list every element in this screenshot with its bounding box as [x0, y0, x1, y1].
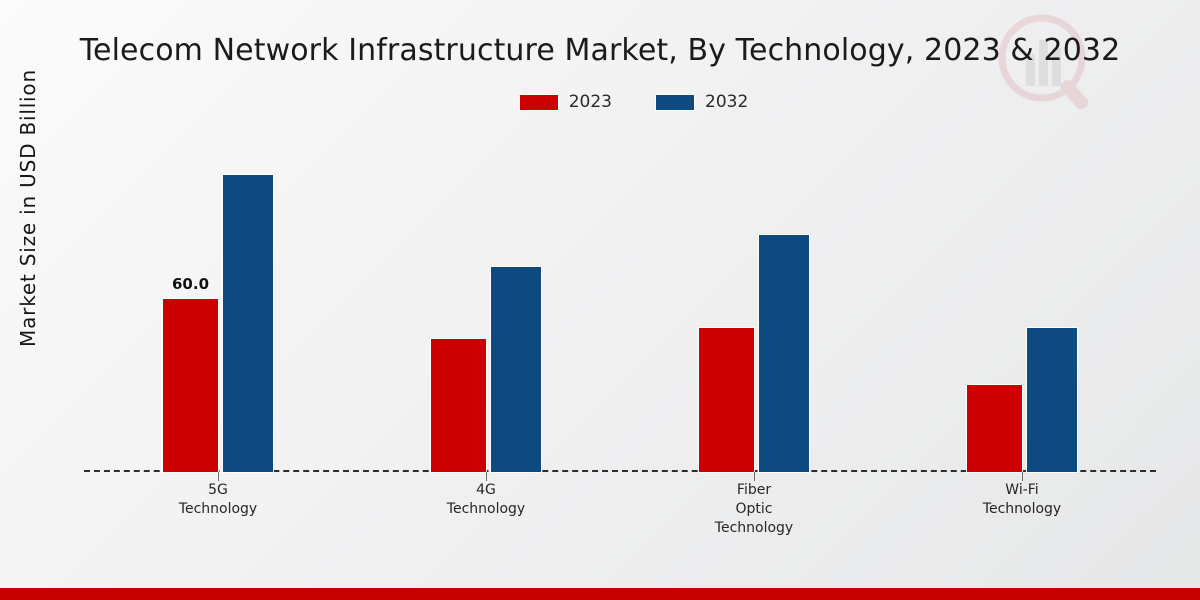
- chart-title: Telecom Network Infrastructure Market, B…: [0, 33, 1200, 68]
- bar-2032-wi-fi-technology[interactable]: [1027, 328, 1077, 472]
- chart-container: Telecom Network Infrastructure Market, B…: [0, 0, 1200, 600]
- legend-item-2032[interactable]: 2032: [656, 92, 748, 112]
- x-axis-tick: [754, 472, 755, 481]
- bar-value-label: 60.0: [172, 275, 209, 293]
- bar-wrapper: [491, 267, 541, 472]
- bar-group: [352, 140, 620, 472]
- footer-accent-bar: [0, 588, 1200, 600]
- legend-swatch-2023: [520, 95, 558, 110]
- x-axis-label: Wi-FiTechnology: [922, 481, 1122, 519]
- y-axis-title: Market Size in USD Billion: [16, 28, 40, 388]
- x-axis-tick: [218, 472, 219, 481]
- x-axis-label-line: 4G: [386, 481, 586, 500]
- x-axis-label-line: Optic: [654, 500, 854, 519]
- bar-2032-fiber-optic-technology[interactable]: [759, 235, 809, 472]
- chart-legend: 2023 2032: [0, 92, 1200, 112]
- bar-wrapper: [1027, 328, 1077, 472]
- legend-swatch-2032: [656, 95, 694, 110]
- x-axis-label-line: Technology: [118, 500, 318, 519]
- bar-2023-wi-fi-technology[interactable]: [967, 385, 1022, 472]
- bar-wrapper: [223, 175, 273, 472]
- legend-label-2032: 2032: [705, 92, 748, 112]
- x-axis-label: FiberOpticTechnology: [654, 481, 854, 538]
- legend-label-2023: 2023: [569, 92, 612, 112]
- bar-group: [620, 140, 888, 472]
- x-axis-label-line: Fiber: [654, 481, 854, 500]
- x-axis-label-line: Technology: [386, 500, 586, 519]
- x-axis-label: 4GTechnology: [386, 481, 586, 519]
- plot-area: 60.0: [84, 140, 1156, 472]
- bar-wrapper: [759, 235, 809, 472]
- x-axis-label: 5GTechnology: [118, 481, 318, 519]
- bar-wrapper: [699, 328, 754, 472]
- bar-2032-4g-technology[interactable]: [491, 267, 541, 472]
- bar-2023-4g-technology[interactable]: [431, 339, 486, 472]
- x-axis-tick: [486, 472, 487, 481]
- bar-group: [888, 140, 1156, 472]
- x-axis-label-line: Wi-Fi: [922, 481, 1122, 500]
- bar-group: 60.0: [84, 140, 352, 472]
- x-axis-label-line: Technology: [654, 519, 854, 538]
- x-axis-tick: [1022, 472, 1023, 481]
- bar-2032-5g-technology[interactable]: [223, 175, 273, 472]
- bar-2023-5g-technology[interactable]: [163, 299, 218, 472]
- bar-2023-fiber-optic-technology[interactable]: [699, 328, 754, 472]
- bar-wrapper: [431, 339, 486, 472]
- bar-wrapper: 60.0: [163, 299, 218, 472]
- legend-item-2023[interactable]: 2023: [520, 92, 612, 112]
- x-axis-label-line: 5G: [118, 481, 318, 500]
- x-axis-label-line: Technology: [922, 500, 1122, 519]
- bar-wrapper: [967, 385, 1022, 472]
